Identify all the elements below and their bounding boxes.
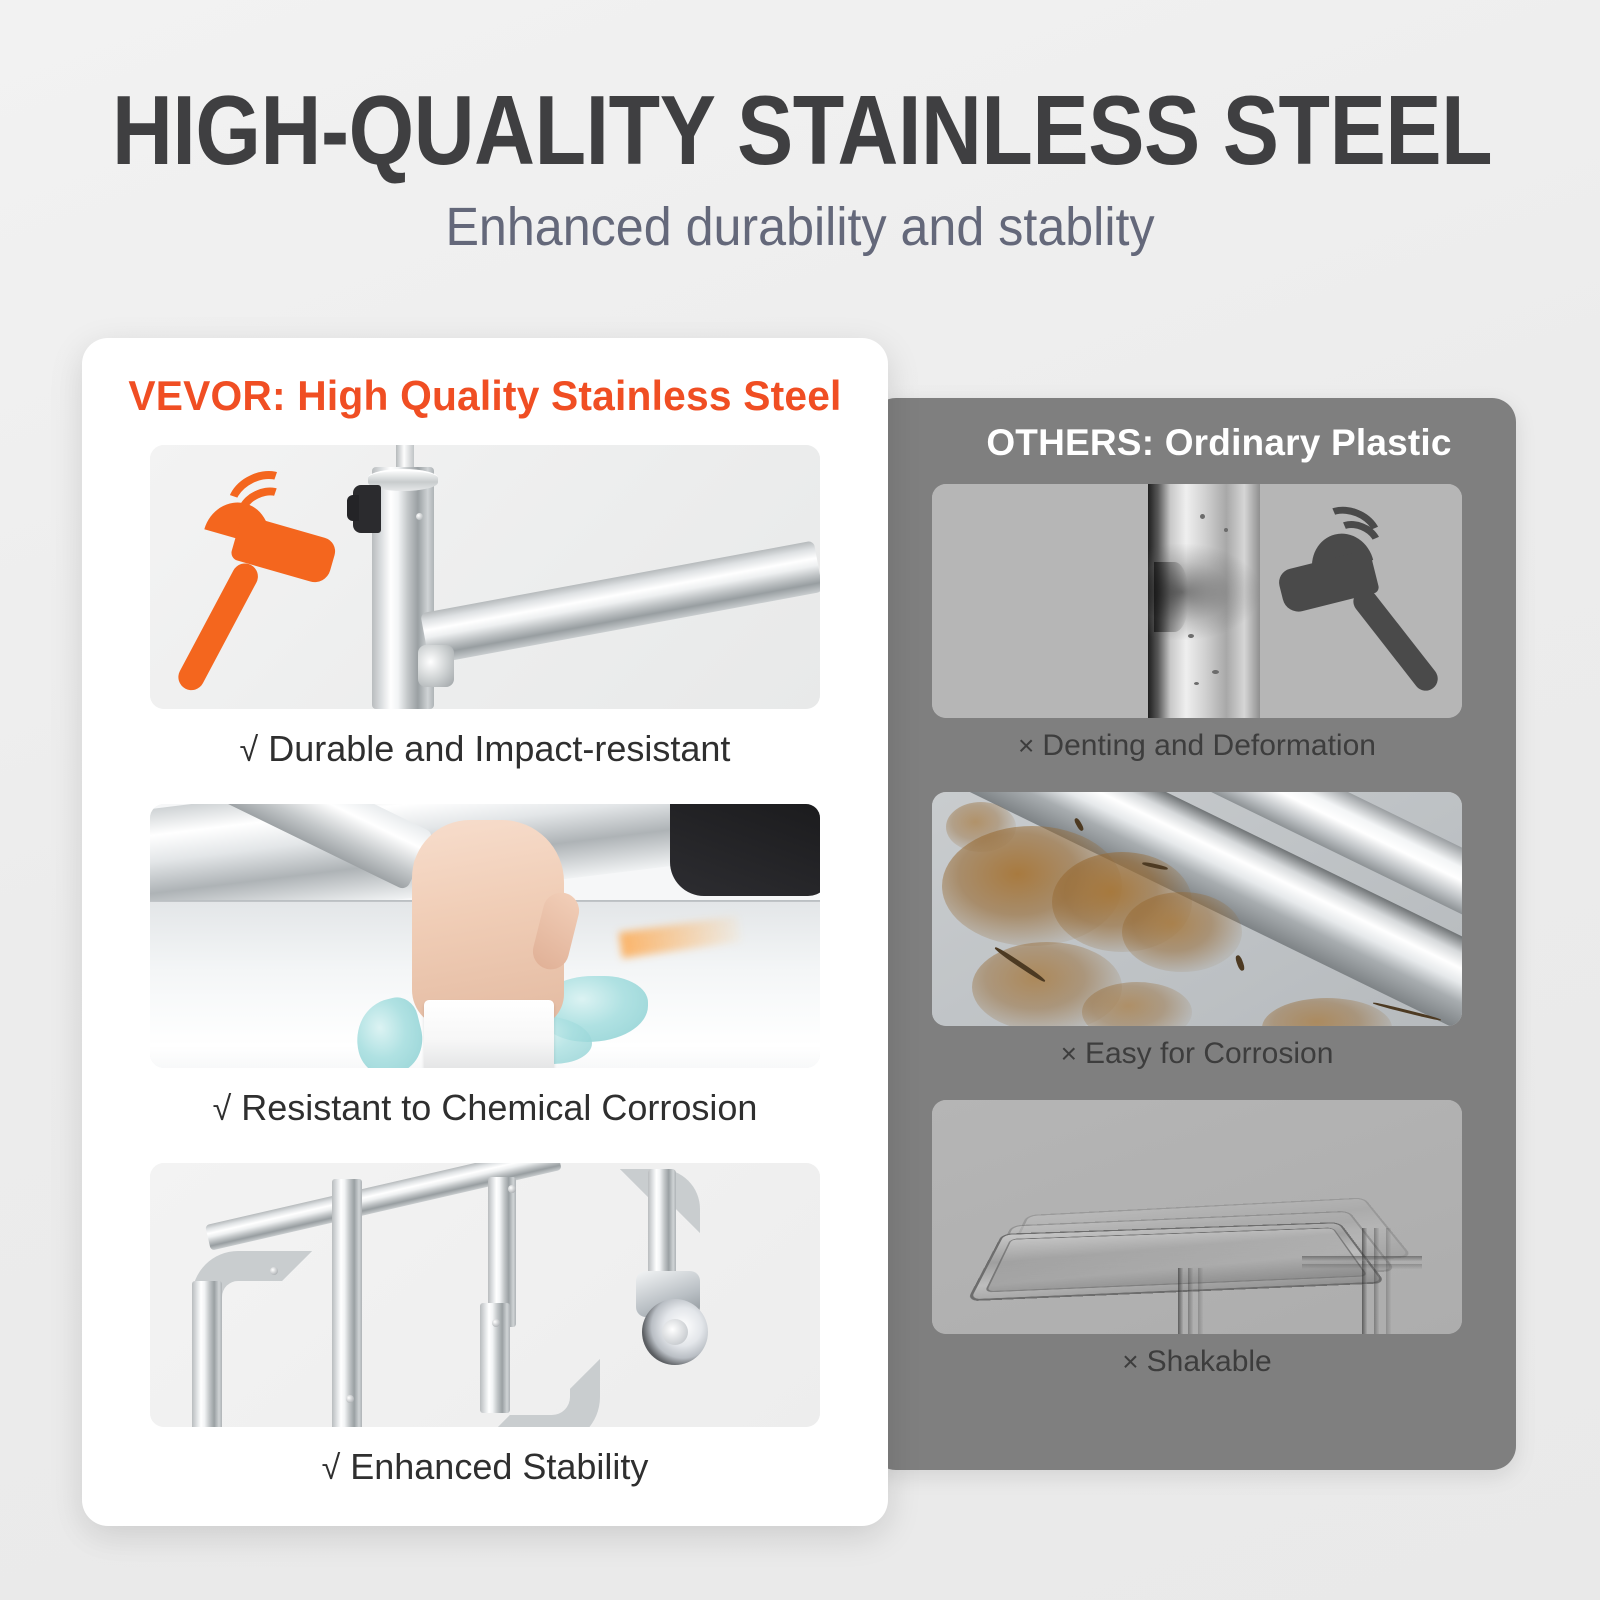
sponge-shape [424,1000,554,1068]
cross-icon: × [1122,1334,1138,1390]
vevor-item-stability: √Enhanced Stability [150,1163,820,1508]
vevor-photo-impact [150,445,820,709]
hammer-icon [202,479,402,709]
check-icon: √ [240,710,259,790]
vevor-photo-stability [150,1163,820,1427]
others-photo-corrosion [932,792,1462,1026]
page-title: HIGH-QUALITY STAINLESS STEEL [112,78,1488,182]
check-icon: √ [213,1069,232,1149]
tray-shape [967,1222,1386,1301]
others-caption-corrosion: ×Easy for Corrosion [932,1026,1462,1082]
vevor-caption-chemical: √Resistant to Chemical Corrosion [150,1068,820,1149]
vevor-card: VEVOR: High Quality Stainless Steel [82,338,888,1526]
hammer-icon [1262,520,1432,700]
others-item-shakable: ×Shakable [932,1100,1462,1390]
others-panel: OTHERS: Ordinary Plastic [872,398,1516,1470]
vevor-caption-impact: √Durable and Impact-resistant [150,709,820,790]
vevor-caption-stability: √Enhanced Stability [150,1427,820,1508]
others-panel-title: OTHERS: Ordinary Plastic [872,422,1516,464]
page-subtitle: Enhanced durability and stablity [56,196,1544,258]
others-caption-shakable: ×Shakable [932,1334,1462,1390]
others-item-corrosion: ×Easy for Corrosion [932,792,1462,1082]
others-caption-denting: ×Denting and Deformation [932,718,1462,774]
check-icon: √ [322,1428,341,1508]
cross-icon: × [1061,1026,1077,1082]
others-feature-list: ×Denting and Deformation [932,484,1462,1408]
vevor-item-chemical: √Resistant to Chemical Corrosion [150,804,820,1149]
vevor-card-title: VEVOR: High Quality Stainless Steel [94,372,876,420]
vevor-feature-list: √Durable and Impact-resistant [150,445,820,1522]
vevor-item-impact: √Durable and Impact-resistant [150,445,820,790]
others-item-denting: ×Denting and Deformation [932,484,1462,774]
others-photo-shakable [932,1100,1462,1334]
vevor-photo-chemical [150,804,820,1068]
infographic-root: HIGH-QUALITY STAINLESS STEEL Enhanced du… [0,0,1600,1600]
cross-icon: × [1018,718,1034,774]
others-photo-denting [932,484,1462,718]
